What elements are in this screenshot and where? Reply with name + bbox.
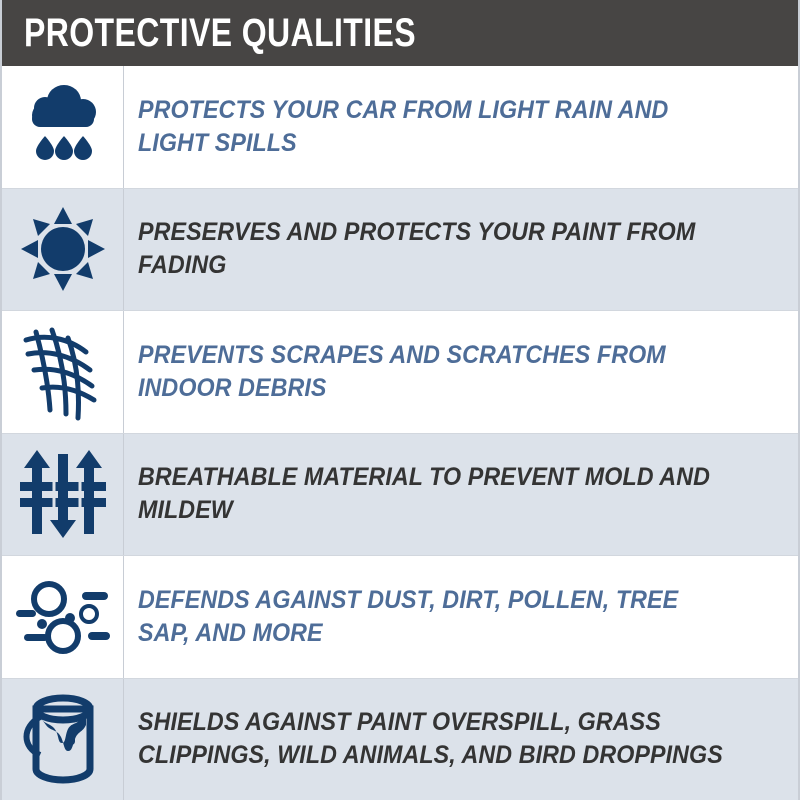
text-cell: PROTECTS YOUR CAR FROM LIGHT RAIN AND LI… xyxy=(124,66,798,188)
list-item: PROTECTS YOUR CAR FROM LIGHT RAIN AND LI… xyxy=(2,66,798,189)
header-bar: PROTECTIVE QUALITIES xyxy=(2,0,798,66)
icon-cell xyxy=(2,189,124,311)
text-cell: PRESERVES AND PROTECTS YOUR PAINT FROM F… xyxy=(124,189,798,311)
rain-cloud-icon xyxy=(19,84,107,170)
dust-particles-icon xyxy=(16,574,110,660)
text-cell: DEFENDS AGAINST DUST, DIRT, POLLEN, TREE… xyxy=(124,556,798,678)
protective-qualities-infographic: PROTECTIVE QUALITIES PROTECTS YOUR CAR F… xyxy=(0,0,800,800)
list-item: PRESERVES AND PROTECTS YOUR PAINT FROM F… xyxy=(2,189,798,312)
icon-cell xyxy=(2,556,124,678)
list-item: PREVENTS SCRAPES AND SCRATCHES FROM INDO… xyxy=(2,311,798,434)
text-cell: BREATHABLE MATERIAL TO PREVENT MOLD AND … xyxy=(124,434,798,556)
paint-can-icon xyxy=(20,689,106,789)
icon-cell xyxy=(2,679,124,800)
sun-icon xyxy=(21,207,105,291)
icon-cell xyxy=(2,311,124,433)
list-item-label: DEFENDS AGAINST DUST, DIRT, POLLEN, TREE… xyxy=(138,584,728,650)
scratch-mesh-icon xyxy=(20,322,106,422)
list-item: SHIELDS AGAINST PAINT OVERSPILL, GRASS C… xyxy=(2,679,798,800)
list-item-label: PRESERVES AND PROTECTS YOUR PAINT FROM F… xyxy=(138,216,728,282)
icon-cell xyxy=(2,66,124,188)
list-item-label: SHIELDS AGAINST PAINT OVERSPILL, GRASS C… xyxy=(138,706,728,772)
feature-list: PROTECTS YOUR CAR FROM LIGHT RAIN AND LI… xyxy=(2,66,798,800)
list-item-label: PROTECTS YOUR CAR FROM LIGHT RAIN AND LI… xyxy=(138,94,728,160)
list-item: BREATHABLE MATERIAL TO PREVENT MOLD AND … xyxy=(2,434,798,557)
list-item: DEFENDS AGAINST DUST, DIRT, POLLEN, TREE… xyxy=(2,556,798,679)
breathable-airflow-icon xyxy=(20,448,106,540)
icon-cell xyxy=(2,434,124,556)
list-item-label: BREATHABLE MATERIAL TO PREVENT MOLD AND … xyxy=(138,461,728,527)
list-item-label: PREVENTS SCRAPES AND SCRATCHES FROM INDO… xyxy=(138,339,728,405)
text-cell: SHIELDS AGAINST PAINT OVERSPILL, GRASS C… xyxy=(124,679,798,800)
text-cell: PREVENTS SCRAPES AND SCRATCHES FROM INDO… xyxy=(124,311,798,433)
page-title: PROTECTIVE QUALITIES xyxy=(24,13,416,53)
